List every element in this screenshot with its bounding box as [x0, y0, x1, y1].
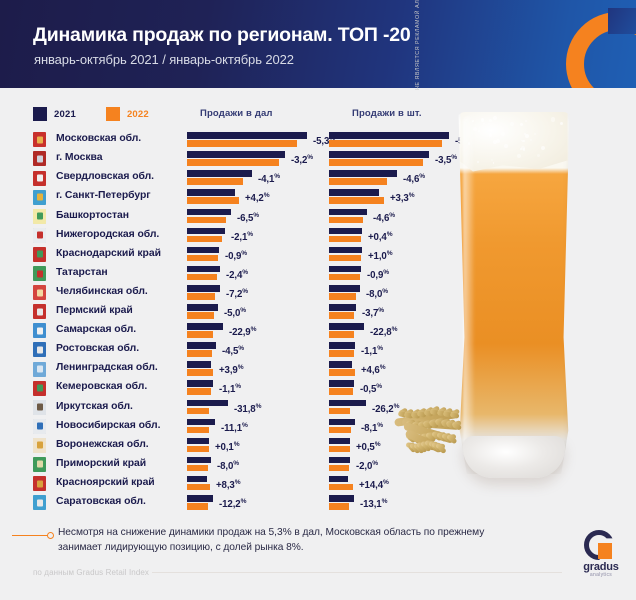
flag-saratov-icon — [33, 495, 46, 510]
bar-2022-sht — [329, 255, 361, 262]
bar-2021-sht — [329, 495, 354, 502]
value-label-sht: +1,0% — [368, 250, 393, 262]
bar-2021-dal — [187, 323, 223, 330]
bar-2021-dal — [187, 228, 225, 235]
flag-krasnodar-icon — [33, 247, 46, 262]
flag-samara-icon — [33, 323, 46, 338]
value-label-dal: +0,1% — [215, 441, 240, 453]
bar-2022-sht — [329, 331, 354, 338]
flag-leningrad-icon — [33, 362, 46, 377]
region-label: Пермский край — [56, 305, 133, 316]
value-label-sht: +4,6% — [361, 364, 386, 376]
bar-2022-dal — [187, 369, 213, 376]
flag-voronezh-icon — [33, 438, 46, 453]
header-banner: Динамика продаж по регионам. ТОП -20 янв… — [0, 0, 636, 88]
bar-2021-dal — [187, 266, 220, 273]
region-label: Краснодарский край — [56, 248, 161, 259]
bar-2022-dal — [187, 159, 279, 166]
bar-2021-sht — [329, 266, 361, 273]
value-label-sht: -4,6% — [403, 173, 425, 185]
bar-2022-dal — [187, 293, 215, 300]
bar-2021-sht — [329, 342, 355, 349]
foam-bubble — [537, 154, 540, 157]
bar-2022-sht — [329, 427, 351, 434]
bar-2021-sht — [329, 228, 362, 235]
region-label: Ростовская обл. — [56, 343, 139, 354]
value-label-sht: -1,1% — [361, 345, 383, 357]
bar-2022-sht — [329, 217, 363, 224]
page-title: Динамика продаж по регионам. ТОП -20 — [33, 24, 411, 47]
flag-chelyabinsk-icon — [33, 285, 46, 300]
bar-2022-dal — [187, 408, 209, 415]
value-label-sht: +3,3% — [390, 192, 415, 204]
foam-bubble — [504, 144, 508, 148]
bar-2021-dal — [187, 209, 231, 216]
foam-bubble — [478, 130, 480, 132]
value-label-dal: -1,1% — [219, 383, 241, 395]
bar-2022-sht — [329, 388, 353, 395]
alcohol-disclaimer: НЕ ЯВЛЯЕТСЯ РЕКЛАМОЙ АЛКОГОЛЬНОЙ ПРОДУКЦ… — [415, 0, 422, 90]
value-label-sht: -2,0% — [356, 460, 378, 472]
bar-2022-sht — [329, 465, 349, 472]
footnote-bullet-icon — [47, 532, 54, 539]
bar-2022-sht — [329, 159, 423, 166]
flag-sverdlovsk-icon — [33, 171, 46, 186]
bar-2021-dal — [187, 304, 218, 311]
bar-2021-sht — [329, 285, 360, 292]
infographic-page: Динамика продаж по регионам. ТОП -20 янв… — [0, 0, 636, 600]
value-label-sht: -13,1% — [360, 498, 387, 510]
bar-2022-dal — [187, 274, 217, 281]
bar-2021-dal — [187, 380, 213, 387]
bar-2022-dal — [187, 236, 222, 243]
value-label-dal: +8,3% — [216, 479, 241, 491]
source-rule — [152, 572, 562, 573]
flag-bashkortostan-icon — [33, 209, 46, 224]
region-label: Нижегородская обл. — [56, 229, 159, 240]
bar-2021-sht — [329, 247, 362, 254]
legend-label-2021: 2021 — [54, 109, 76, 120]
bar-2022-dal — [187, 312, 214, 319]
foam-bubble — [488, 123, 491, 126]
value-label-dal: -4,5% — [222, 345, 244, 357]
bar-2022-sht — [329, 350, 354, 357]
value-label-dal: -8,0% — [217, 460, 239, 472]
bar-2022-dal — [187, 197, 239, 204]
region-label: Башкортостан — [56, 210, 129, 221]
bar-2021-sht — [329, 209, 367, 216]
chart-legend: 2021 2022 — [33, 107, 149, 121]
foam-bubble — [496, 139, 500, 143]
bar-2022-dal — [187, 446, 209, 453]
value-label-sht: +0,4% — [368, 231, 393, 243]
logo-square-icon — [598, 543, 612, 559]
foam-bubble — [560, 122, 563, 125]
bar-2022-sht — [329, 197, 384, 204]
bar-2021-sht — [329, 170, 397, 177]
bar-2021-dal — [187, 151, 285, 158]
bar-2021-dal — [187, 495, 213, 502]
bar-2021-dal — [187, 285, 220, 292]
value-label-dal: -11,1% — [221, 422, 248, 434]
foam-bubble — [525, 120, 527, 122]
value-label-dal: -5,0% — [224, 307, 246, 319]
bar-2022-dal — [187, 331, 213, 338]
value-label-sht: -3,5% — [435, 154, 457, 166]
flag-krasnoyarsk-icon — [33, 476, 46, 491]
bar-2022-dal — [187, 465, 208, 472]
bar-2021-sht — [329, 400, 366, 407]
value-label-dal: -2,4% — [226, 269, 248, 281]
bar-2021-sht — [329, 476, 348, 483]
bar-2021-sht — [329, 304, 356, 311]
flag-saint-petersburg-icon — [33, 190, 46, 205]
value-label-sht: -8,0% — [366, 288, 388, 300]
value-label-sht: -0,5% — [360, 383, 382, 395]
bar-2021-sht — [329, 151, 429, 158]
foam-bubble — [510, 122, 514, 126]
flag-tatarstan-icon — [33, 266, 46, 281]
bar-2021-dal — [187, 457, 211, 464]
bar-2022-dal — [187, 484, 210, 491]
value-label-dal: -3,2% — [291, 154, 313, 166]
bar-2021-dal — [187, 476, 207, 483]
bar-2022-sht — [329, 274, 360, 281]
bar-2022-sht — [329, 312, 354, 319]
bar-2022-sht — [329, 293, 356, 300]
region-label: Московская обл. — [56, 133, 141, 144]
bar-2021-dal — [187, 189, 235, 196]
bar-2021-sht — [329, 419, 355, 426]
value-label-sht: -4,6% — [373, 212, 395, 224]
bar-2021-sht — [329, 380, 354, 387]
column-header-dal: Продажи в дал — [200, 108, 273, 119]
flag-primorsky-icon — [33, 457, 46, 472]
footnote-text: Несмотря на снижение динамики продаж на … — [58, 525, 498, 555]
region-label: Кемеровская обл. — [56, 381, 147, 392]
region-label: Красноярский край — [56, 477, 155, 488]
foam-bubble — [517, 154, 521, 158]
value-label-sht: -3,7% — [362, 307, 384, 319]
region-label: Самарская обл. — [56, 324, 136, 335]
value-label-dal: -22,9% — [229, 326, 256, 338]
value-label-sht: -22,8% — [370, 326, 397, 338]
foam-bubble — [489, 133, 492, 136]
region-label: Приморский край — [56, 458, 146, 469]
bar-2022-sht — [329, 236, 361, 243]
logo-tagline: analytics — [578, 572, 624, 578]
bar-2022-dal — [187, 503, 208, 510]
foam-bubble — [489, 119, 492, 122]
gradus-logo[interactable]: gradus analytics — [578, 530, 624, 578]
region-label: Воронежская обл. — [56, 439, 149, 450]
region-label: Саратовская обл. — [56, 496, 146, 507]
page-subtitle: январь-октябрь 2021 / январь-октябрь 202… — [34, 52, 294, 67]
value-label-dal: +4,2% — [245, 192, 270, 204]
region-label: Ленинградская обл. — [56, 362, 158, 373]
bar-2022-sht — [329, 484, 353, 491]
bar-2021-sht — [329, 323, 364, 330]
bar-2022-dal — [187, 178, 243, 185]
bar-2021-sht — [329, 189, 379, 196]
bar-2021-dal — [187, 342, 216, 349]
flag-kemerovo-icon — [33, 381, 46, 396]
bar-2021-sht — [329, 132, 449, 139]
bar-2022-sht — [329, 408, 350, 415]
beer-glass-illustration: НЕ ЯВЛЯЕТСЯ РЕКЛАМОЙ АЛКОГОЛЬНОЙ ПРОДУКЦ… — [455, 100, 575, 500]
bar-2021-dal — [187, 400, 228, 407]
region-label: г. Москва — [56, 152, 102, 163]
bar-2021-dal — [187, 438, 209, 445]
foam-bubble — [551, 117, 555, 121]
bar-2022-sht — [329, 446, 350, 453]
bar-2021-sht — [329, 457, 350, 464]
legend-swatch-2021 — [33, 107, 47, 121]
bar-2022-sht — [329, 369, 355, 376]
bar-2022-dal — [187, 350, 212, 357]
flag-rostov-icon — [33, 342, 46, 357]
value-label-dal: -4,1% — [258, 173, 280, 185]
region-label: г. Санкт-Петербург — [56, 190, 151, 201]
foam-bubble — [477, 161, 479, 163]
bar-2021-sht — [329, 361, 352, 368]
legend-label-2022: 2022 — [127, 109, 149, 120]
foam-bubble — [481, 118, 485, 122]
bar-2022-dal — [187, 217, 226, 224]
flag-perm-icon — [33, 304, 46, 319]
flag-novosibirsk-icon — [33, 419, 46, 434]
bar-2022-dal — [187, 140, 297, 147]
bar-2022-dal — [187, 427, 209, 434]
value-label-sht: +14,4% — [359, 479, 389, 491]
region-label: Новосибирская обл. — [56, 420, 160, 431]
value-label-dal: -7,2% — [226, 288, 248, 300]
foam-bubble — [493, 162, 494, 163]
brand-ring-icon — [566, 12, 636, 88]
column-header-sht: Продажи в шт. — [352, 108, 422, 119]
source-label: по данным Gradus Retail Index — [33, 568, 149, 577]
footnote-rule — [12, 535, 48, 536]
wheat-ears — [380, 392, 490, 462]
region-label: Челябинская обл. — [56, 286, 148, 297]
value-label-dal: -6,5% — [237, 212, 259, 224]
flag-moscow-oblast-icon — [33, 132, 46, 147]
region-label: Свердловская обл. — [56, 171, 154, 182]
bar-2022-sht — [329, 140, 442, 147]
legend-swatch-2022 — [106, 107, 120, 121]
value-label-dal: -2,1% — [231, 231, 253, 243]
foam-bubble — [520, 123, 523, 126]
value-label-sht: -0,9% — [367, 269, 389, 281]
value-label-dal: +3,9% — [219, 364, 244, 376]
foam-bubble — [541, 146, 545, 150]
bar-2022-sht — [329, 503, 349, 510]
foam-bubble — [483, 123, 485, 125]
value-label-dal: -12,2% — [219, 498, 246, 510]
bar-2021-dal — [187, 132, 307, 139]
bar-2022-dal — [187, 388, 211, 395]
bar-2021-sht — [329, 438, 350, 445]
foam-bubble — [522, 140, 525, 143]
value-label-dal: -31,8% — [234, 403, 261, 415]
flag-nizhny-novgorod-icon — [33, 228, 46, 243]
bar-2022-dal — [187, 255, 218, 262]
bar-2022-sht — [329, 178, 387, 185]
foam-bubble — [530, 139, 532, 141]
value-label-dal: -0,9% — [225, 250, 247, 262]
bar-2021-dal — [187, 247, 219, 254]
region-label: Иркутская обл. — [56, 401, 133, 412]
foam-bubble — [491, 159, 493, 161]
value-label-sht: +0,5% — [356, 441, 381, 453]
bar-2021-dal — [187, 170, 252, 177]
bar-2021-dal — [187, 419, 215, 426]
foam-bubble — [501, 132, 505, 136]
foam-bubble — [534, 133, 536, 135]
region-label: Татарстан — [56, 267, 108, 278]
bar-2021-dal — [187, 361, 211, 368]
flag-moscow-city-icon — [33, 151, 46, 166]
flag-irkutsk-icon — [33, 400, 46, 415]
foam-bubble — [493, 116, 497, 120]
